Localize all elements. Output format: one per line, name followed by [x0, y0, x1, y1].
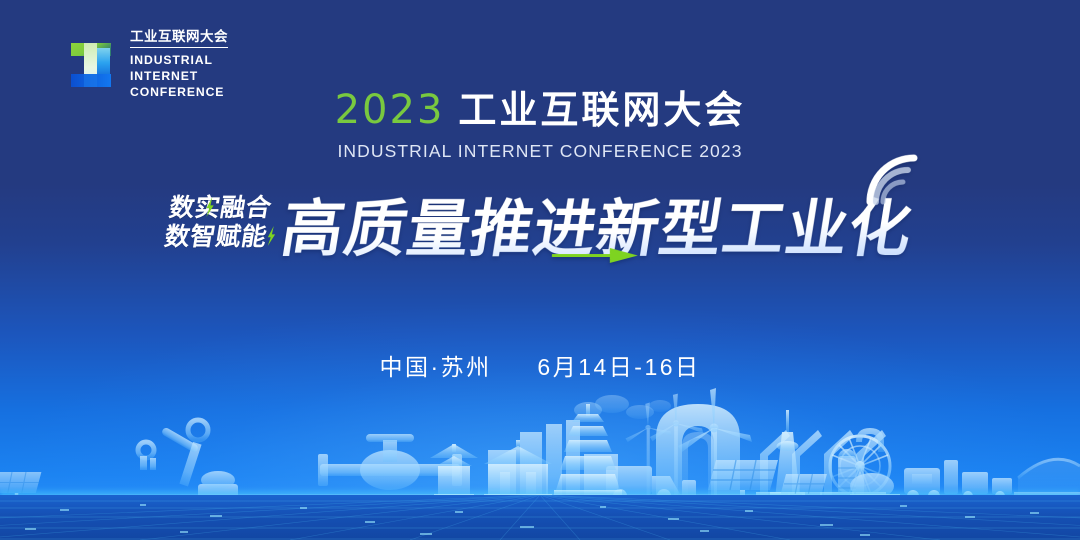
event-location: 中国·苏州: [379, 354, 491, 380]
conference-poster: 工业互联网大会 INDUSTRIAL INTERNET CONFERENCE 2…: [0, 0, 1080, 540]
green-arrow-icon: [551, 247, 637, 264]
kicker-line-2-text: 数智赋能: [163, 223, 269, 251]
title-year: 2023: [335, 90, 445, 130]
headline-kicker: 数实融合 数智赋能: [163, 196, 274, 250]
headline-block: 数实融合 数智赋能 高质量推进新型工业化: [0, 178, 1080, 268]
event-date: 6月14日-16日: [537, 354, 700, 380]
logo-en-line1: INDUSTRIAL: [130, 52, 228, 68]
event-place-date: 中国·苏州 6月14日-16日: [0, 348, 1080, 382]
headline-main: 高质量推进新型工业化: [275, 178, 919, 268]
kicker-line-1: 数实融合: [168, 196, 274, 221]
logo-en-line2: INTERNET: [130, 68, 228, 84]
logo-mark-icon: [58, 34, 120, 96]
city-industry-skyline: [0, 380, 1080, 540]
kicker-line-2: 数智赋能: [163, 225, 269, 250]
logo-cn-name: 工业互联网大会: [130, 30, 228, 48]
title-cn: 工业互联网大会: [458, 92, 745, 130]
kicker-line-1-text: 数实融合: [168, 194, 274, 222]
wifi-signal-icon: [859, 148, 921, 210]
title-main-row: 2023 工业互联网大会: [0, 90, 1080, 130]
ground-speckles: [0, 495, 1080, 540]
